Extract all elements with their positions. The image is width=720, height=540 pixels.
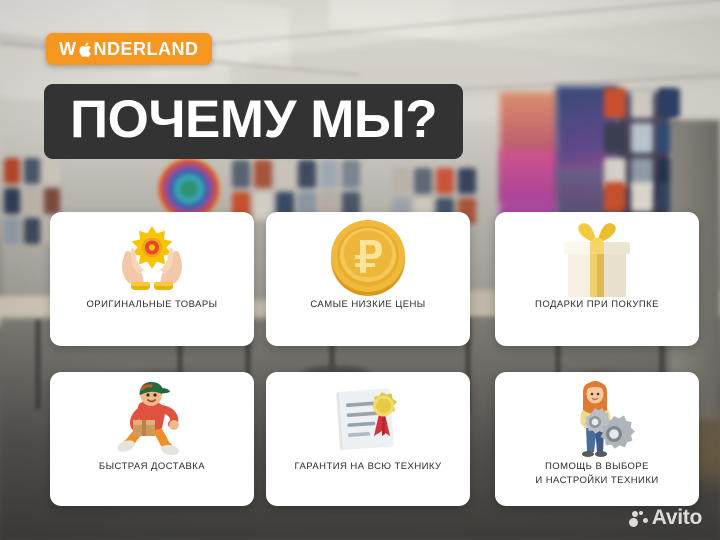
promo-banner: W NDERLAND ПОЧЕМУ МЫ? 1 [0,0,720,540]
woman-with-gears-icon [495,372,699,460]
benefit-card-original-goods[interactable]: 1 [50,212,254,346]
benefit-card-label: ПОМОЩЬ В ВЫБОРЕ И НАСТРОЙКИ ТЕХНИКИ [527,460,666,488]
benefit-card-label: САМЫЕ НИЗКИЕ ЦЕНЫ [302,298,433,312]
avito-wordmark: Avito [652,507,702,528]
benefit-card-label: ГАРАНТИЯ НА ВСЮ ТЕХНИКУ [286,460,449,474]
brand-logo-badge[interactable]: W NDERLAND [46,33,212,65]
benefit-card-warranty[interactable]: 2 [266,372,470,506]
benefit-card-gifts[interactable]: 3 ПОДАРКИ ПРИ ПОКУПКЕ [495,212,699,346]
benefit-card-lowest-prices[interactable]: 2 САМЫЕ НИЗКИЕ ЦЕНЫ [266,212,470,346]
brand-name-suffix: NDERLAND [94,40,199,58]
avito-watermark: Avito [629,507,702,528]
certificate-with-rosette-icon [266,372,470,460]
apple-logo-icon [78,41,93,59]
benefit-card-label: БЫСТРАЯ ДОСТАВКА [91,460,213,474]
benefit-card-label: ОРИГИНАЛЬНЫЕ ТОВАРЫ [78,298,225,312]
page-title: ПОЧЕМУ МЫ? [70,93,437,146]
benefit-card-setup-help[interactable]: 5 [495,372,699,506]
brand-name-prefix: W [59,40,77,58]
brand-logo-text: W NDERLAND [59,40,199,58]
benefit-card-fast-delivery[interactable]: 4 [50,372,254,506]
gold-ruble-coin-icon [266,212,470,298]
gift-box-icon [495,212,699,298]
benefit-card-label: ПОДАРКИ ПРИ ПОКУПКЕ [527,298,667,312]
running-courier-icon [50,372,254,460]
headline-banner: ПОЧЕМУ МЫ? [44,84,463,159]
open-hands-with-sparkle-icon [50,212,254,298]
avito-dots-icon [629,508,648,527]
